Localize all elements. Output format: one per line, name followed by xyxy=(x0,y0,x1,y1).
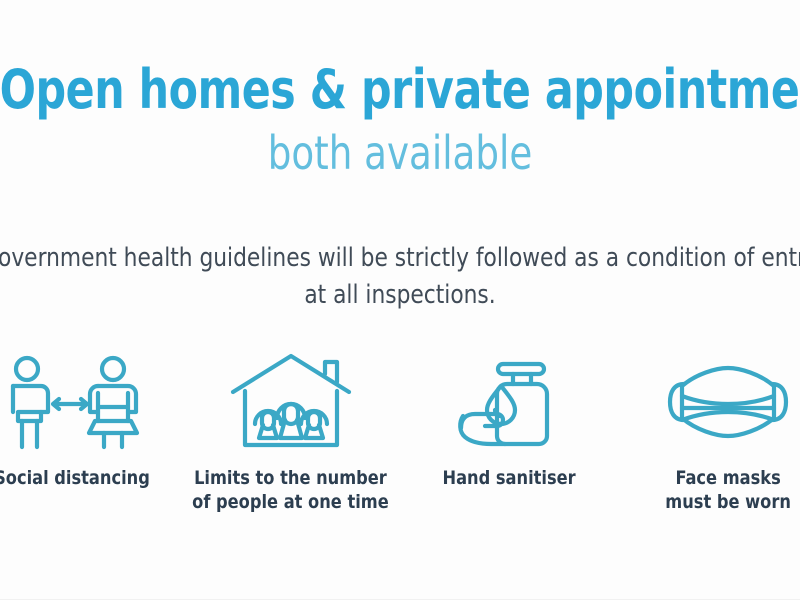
measure-occupancy-limit: Limits to the number of people at one ti… xyxy=(182,352,400,515)
caption-line-1: Hand sanitiser xyxy=(443,467,576,489)
measure-social-distancing: Social distancing xyxy=(0,352,181,490)
hand-sanitiser-icon xyxy=(455,352,563,452)
caption-line-1: Social distancing xyxy=(0,467,150,489)
safety-measures-row: Social distancing xyxy=(0,352,800,515)
caption-line-2: of people at one time xyxy=(192,491,389,513)
poster-viewport: Open homes & private appointments both a… xyxy=(0,0,800,600)
house-occupancy-limit-icon xyxy=(229,352,353,452)
face-mask-icon xyxy=(660,352,796,452)
caption-line-2: must be worn xyxy=(665,491,791,513)
social-distancing-icon xyxy=(0,352,147,452)
caption-hand-sanitiser: Hand sanitiser xyxy=(443,466,576,490)
headline-block: Open homes & private appointments both a… xyxy=(0,62,800,177)
caption-line-1: Limits to the number xyxy=(194,467,387,489)
measure-hand-sanitiser: Hand sanitiser xyxy=(400,352,618,490)
measure-face-mask: Face masks must be worn xyxy=(619,352,800,515)
page-title: Open homes & private appointments xyxy=(0,62,800,119)
caption-face-mask: Face masks must be worn xyxy=(665,466,791,515)
caption-line-1: Face masks xyxy=(675,467,780,489)
caption-social-distancing: Social distancing xyxy=(0,466,150,490)
page-subtitle: both available xyxy=(0,129,800,177)
covid-safety-poster: Open homes & private appointments both a… xyxy=(0,0,800,600)
caption-occupancy-limit: Limits to the number of people at one ti… xyxy=(192,466,389,515)
body-paragraph: Government health guidelines will be str… xyxy=(0,240,800,314)
